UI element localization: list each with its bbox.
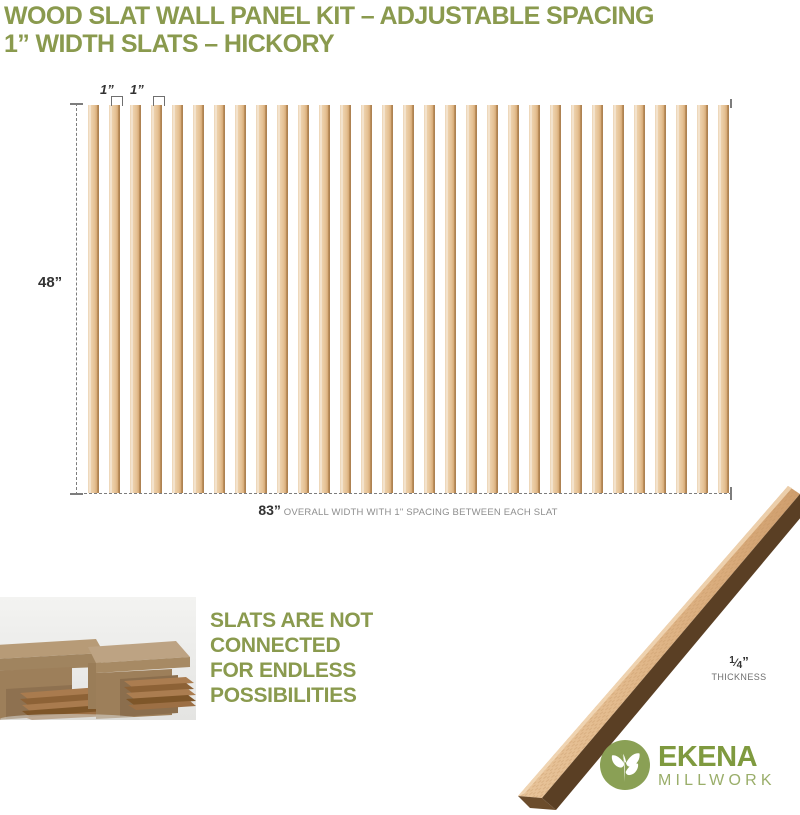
slat (508, 105, 519, 493)
packaging-illustration (0, 597, 196, 720)
slat (550, 105, 561, 493)
slat-width-label: 1” (130, 82, 144, 97)
slat-sheen (341, 105, 343, 493)
slat-sheen (530, 105, 532, 493)
slat-sheen (320, 105, 322, 493)
slat (613, 105, 624, 493)
slat-sheen (467, 105, 469, 493)
slats-not-connected-callout: SLATS ARE NOT CONNECTED FOR ENDLESS POSS… (210, 608, 373, 708)
slat-width-bracket (153, 96, 165, 106)
slat-sheen (698, 105, 700, 493)
gap-spacing-label: 1” (100, 82, 114, 97)
thickness-callout: 1⁄4” THICKNESS (704, 655, 774, 682)
logo-subbrand: MILLWORK (658, 772, 776, 790)
slat-sheen (89, 105, 91, 493)
slat (193, 105, 204, 493)
slat-sheen (383, 105, 385, 493)
slat-sheen (635, 105, 637, 493)
callout-line-2: CONNECTED (210, 633, 373, 658)
slat-sheen (677, 105, 679, 493)
logo-badge (600, 740, 650, 790)
slat-sheen (257, 105, 259, 493)
slat (571, 105, 582, 493)
title-line-1: WOOD SLAT WALL PANEL KIT – ADJUSTABLE SP… (4, 2, 654, 30)
slat-sheen (593, 105, 595, 493)
slat-sheen (173, 105, 175, 493)
slat-sheen (551, 105, 553, 493)
dimension-tick-top-right (730, 99, 732, 108)
slat (592, 105, 603, 493)
dimension-tick-bottom-left (70, 493, 83, 495)
slat-sheen (425, 105, 427, 493)
slat (172, 105, 183, 493)
dimension-tick-top-left (70, 103, 83, 105)
slat-panel-diagram (88, 105, 734, 493)
slat (214, 105, 225, 493)
slat-sheen (215, 105, 217, 493)
slat (277, 105, 288, 493)
callout-line-4: POSSIBILITIES (210, 683, 373, 708)
slat (319, 105, 330, 493)
slat-sheen (362, 105, 364, 493)
height-dimension-line (76, 103, 77, 495)
slat (298, 105, 309, 493)
slat (109, 105, 120, 493)
slat-sheen (614, 105, 616, 493)
slat (529, 105, 540, 493)
slat-sheen (404, 105, 406, 493)
slat (466, 105, 477, 493)
slat (403, 105, 414, 493)
thickness-label: THICKNESS (704, 672, 774, 682)
slat-sheen (656, 105, 658, 493)
page-title: WOOD SLAT WALL PANEL KIT – ADJUSTABLE SP… (4, 2, 796, 58)
slat (697, 105, 708, 493)
slat-sheen (509, 105, 511, 493)
slat-sheen (719, 105, 721, 493)
slat (634, 105, 645, 493)
slat (487, 105, 498, 493)
slat (256, 105, 267, 493)
height-label: 48” (38, 274, 62, 291)
slat-sheen (299, 105, 301, 493)
logo-wordmark: EKENA MILLWORK (658, 742, 776, 790)
slat (382, 105, 393, 493)
thickness-denominator: 4 (737, 660, 743, 671)
slat (655, 105, 666, 493)
slat-sheen (131, 105, 133, 493)
callout-line-1: SLATS ARE NOT (210, 608, 373, 633)
slat (88, 105, 99, 493)
slat (718, 105, 729, 493)
slat-sheen (446, 105, 448, 493)
title-line-2: 1” WIDTH SLATS – HICKORY (4, 30, 796, 58)
packaging-photo-inset (0, 597, 196, 720)
thickness-value: 1⁄4” (704, 655, 774, 671)
callout-line-3: FOR ENDLESS (210, 658, 373, 683)
slat-sheen (194, 105, 196, 493)
slat-sheen (110, 105, 112, 493)
slat (676, 105, 687, 493)
slat-sheen (152, 105, 154, 493)
slat-sheen (488, 105, 490, 493)
slat (235, 105, 246, 493)
slat-sheen (572, 105, 574, 493)
thickness-numerator: 1 (729, 655, 735, 666)
slat-sheen (236, 105, 238, 493)
slat-sheen (278, 105, 280, 493)
slat (445, 105, 456, 493)
slat (361, 105, 372, 493)
ekena-millwork-logo[interactable]: EKENA MILLWORK (600, 740, 800, 798)
slat (424, 105, 435, 493)
width-value: 83” (258, 502, 281, 518)
leaf-sprout-icon (600, 740, 650, 790)
logo-brand: EKENA (658, 742, 776, 772)
slat (151, 105, 162, 493)
thickness-unit: ” (742, 654, 749, 669)
slat (340, 105, 351, 493)
gap-spacing-bracket (111, 96, 123, 106)
slat (130, 105, 141, 493)
product-spec-image: WOOD SLAT WALL PANEL KIT – ADJUSTABLE SP… (0, 0, 800, 800)
